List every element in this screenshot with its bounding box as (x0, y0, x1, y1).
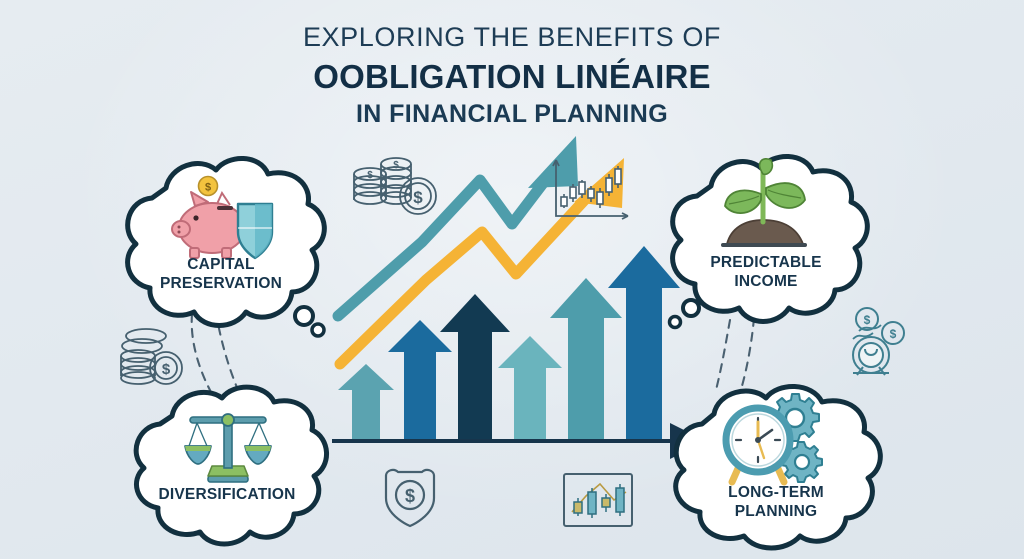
cloud-predictable-income[interactable]: PREDICTABLE INCOME (655, 150, 877, 336)
cloud-diversification[interactable]: DIVERSIFICATION (118, 382, 336, 552)
candlestick-chart-framed-icon (562, 472, 634, 528)
chart-bar-4 (498, 336, 562, 440)
cloud-capital-preservation[interactable]: $ (108, 152, 334, 340)
svg-text:$: $ (393, 160, 399, 171)
svg-text:$: $ (405, 486, 415, 506)
svg-text:$: $ (367, 170, 373, 181)
coin-stack-icon: $ $ $ (348, 152, 440, 222)
chart-bar-2 (388, 320, 452, 440)
title-line-2: OOBLIGATION LINÉAIRE (0, 56, 1024, 97)
title-line-3: IN FINANCIAL PLANNING (0, 99, 1024, 129)
chart-bar-1 (338, 364, 394, 440)
cloud-long-term-planning[interactable]: LONG-TERM PLANNING (652, 382, 900, 556)
svg-text:$: $ (162, 361, 171, 378)
chart-bar-5 (550, 278, 622, 440)
candlestick-chart-icon (548, 156, 634, 226)
shield-dollar-icon: $ (372, 462, 448, 532)
svg-text:$: $ (413, 188, 423, 207)
title-line-1: EXPLORING THE BENEFITS OF (0, 22, 1024, 54)
svg-text:$: $ (890, 327, 897, 341)
title-block: EXPLORING THE BENEFITS OF OOBLIGATION LI… (0, 22, 1024, 129)
infographic-canvas: EXPLORING THE BENEFITS OF OOBLIGATION LI… (0, 0, 1024, 559)
